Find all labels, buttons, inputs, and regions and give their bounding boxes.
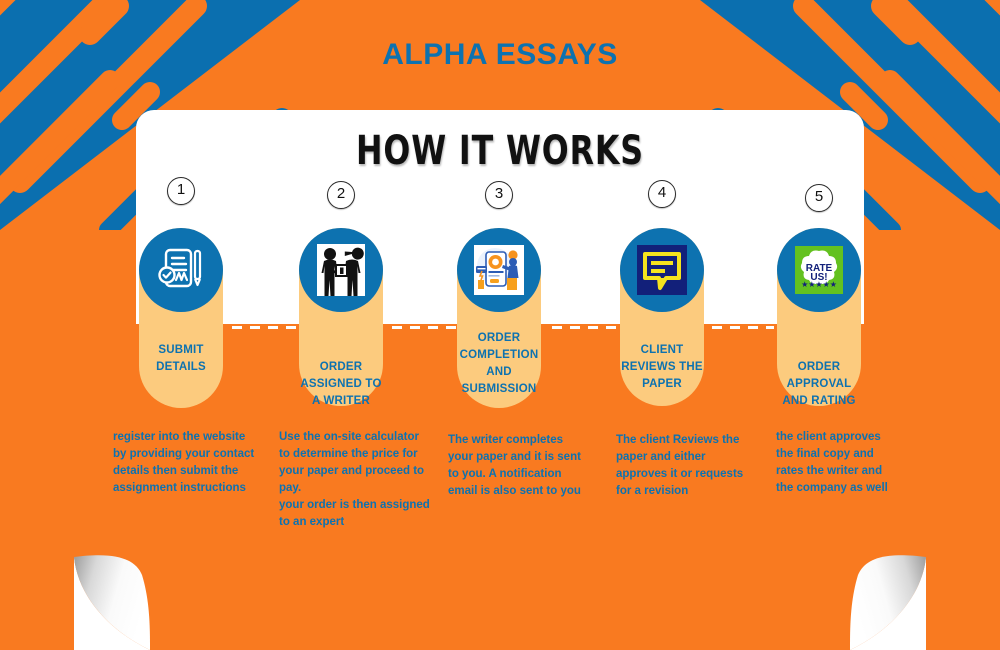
step-description-2: Use the on-site calculator to determine … (279, 429, 439, 531)
connector-dash-2 (392, 326, 464, 329)
connector-dash-4 (712, 326, 774, 329)
page-title: ALPHA ESSAYS (0, 38, 1000, 72)
page-curl-left (50, 545, 250, 650)
step-caption: ORDER APPROVAL AND RATING (760, 359, 878, 410)
step-description-3: The writer completes your paper and it i… (448, 432, 598, 500)
page-curl-right (750, 545, 950, 650)
mobile-order-complete-icon (469, 240, 529, 300)
step-caption: ORDER COMPLETION AND SUBMISSION (440, 330, 558, 398)
step-icon-disc (457, 228, 541, 312)
step-description-1: register into the website by providing y… (113, 429, 281, 497)
step-number-badge: 2 (327, 181, 355, 209)
connector-dash-1 (232, 326, 304, 329)
step-number-badge: 1 (167, 177, 195, 205)
step-icon-disc: RATE US! ★★★★★ (777, 228, 861, 312)
speech-bubble-review-icon (634, 242, 690, 298)
step-description-4: The client Reviews the paper and either … (616, 432, 772, 500)
step-caption: SUBMIT DETAILS (122, 342, 240, 376)
step-number-badge: 3 (485, 181, 513, 209)
connector-dash-3 (552, 326, 624, 329)
step-caption: CLIENT REVIEWS THE PAPER (603, 342, 721, 393)
step-caption: ORDER ASSIGNED TO A WRITER (282, 359, 400, 410)
step-icon-disc (139, 228, 223, 312)
handshake-delivery-icon (311, 240, 371, 300)
rate-us-stars-icon: RATE US! ★★★★★ (791, 242, 847, 298)
section-heading: HOW IT WORKS (60, 128, 940, 174)
step-icon-disc (620, 228, 704, 312)
step-icon-disc (299, 228, 383, 312)
step-number-badge: 4 (648, 180, 676, 208)
rate-badge-stars: ★★★★★ (801, 280, 837, 289)
signed-document-icon (155, 244, 207, 296)
poster-canvas: ALPHA ESSAYS HOW IT WORKS 1 (0, 0, 1000, 650)
step-description-5: the client approves the final copy and r… (776, 429, 928, 497)
step-number-badge: 5 (805, 184, 833, 212)
